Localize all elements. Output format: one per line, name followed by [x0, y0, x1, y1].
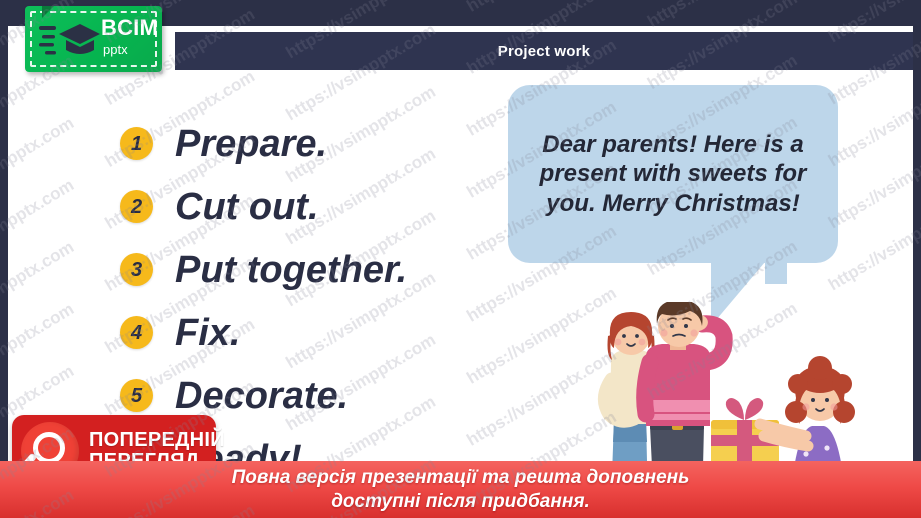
- speech-bubble-tail-block: [765, 262, 787, 284]
- page-title: Project work: [498, 43, 590, 60]
- logo-subtitle: pptx: [103, 43, 158, 56]
- bcim-logo[interactable]: BCIM pptx: [25, 6, 162, 72]
- speech-bubble-text: Dear parents! Here is a present with swe…: [508, 130, 838, 218]
- list-item: 3 Put together.: [120, 238, 540, 301]
- step-label: Fix.: [175, 314, 240, 352]
- graduation-cap-icon: [39, 20, 101, 60]
- purchase-banner-text: Повна версія презентації та решта доповн…: [232, 466, 690, 512]
- list-item: 1 Prepare.: [120, 112, 540, 175]
- step-number-badge: 5: [120, 379, 153, 412]
- preview-badge-line1: ПОПЕРЕДНІЙ: [89, 430, 225, 451]
- step-number: 2: [131, 197, 142, 217]
- step-label: Put together.: [175, 251, 407, 289]
- list-item: 2 Cut out.: [120, 175, 540, 238]
- step-label: Cut out.: [175, 188, 319, 226]
- magnifier-lens: [33, 432, 65, 464]
- list-item: 4 Fix.: [120, 301, 540, 364]
- step-number: 3: [131, 260, 142, 280]
- step-label: Decorate.: [175, 377, 348, 415]
- step-number-badge: 2: [120, 190, 153, 223]
- slide-title-bar: Project work: [175, 32, 913, 70]
- step-number: 4: [131, 323, 142, 343]
- step-number-badge: 1: [120, 127, 153, 160]
- speech-bubble: Dear parents! Here is a present with swe…: [508, 85, 838, 263]
- purchase-banner: Повна версія презентації та решта доповн…: [0, 461, 921, 518]
- step-number-badge: 4: [120, 316, 153, 349]
- step-label: Prepare.: [175, 125, 327, 163]
- step-number: 1: [131, 134, 142, 154]
- step-number: 5: [131, 386, 142, 406]
- slide-viewer: Project work 1 Prepare. 2 Cut out. 3 P: [0, 0, 921, 518]
- step-number-badge: 3: [120, 253, 153, 286]
- logo-wordmark: BCIM pptx: [101, 17, 158, 56]
- logo-name: BCIM: [101, 17, 158, 39]
- banner-line2: доступні після придбання.: [232, 490, 690, 513]
- banner-line1: Повна версія презентації та решта доповн…: [232, 466, 690, 489]
